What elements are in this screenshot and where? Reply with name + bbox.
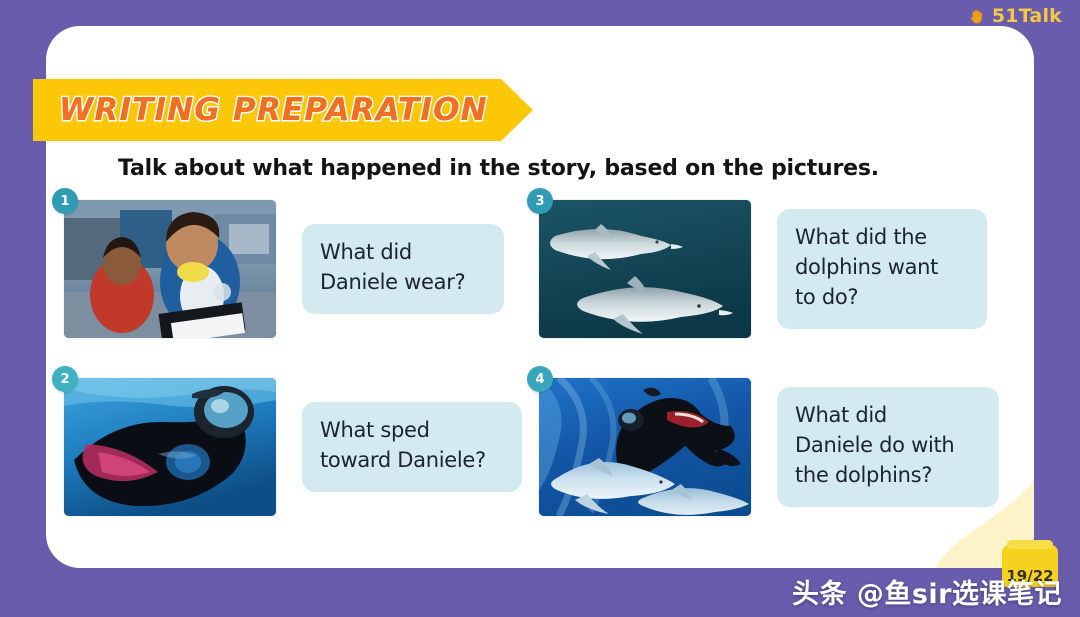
page-title: WRITING PREPARATION (59, 92, 488, 128)
section-banner: WRITING PREPARATION WRITING PREPARATION (33, 79, 533, 141)
list-item: 1 (64, 200, 504, 338)
list-item: 3 (539, 200, 987, 338)
list-item: 2 (64, 378, 522, 516)
instruction-text: Talk about what happened in the story, b… (118, 156, 879, 181)
item-number-badge: 4 (527, 366, 553, 392)
picture-2[interactable] (64, 378, 276, 516)
watermark-text: 头条 @鱼sir选课笔记 (792, 572, 1062, 611)
question-bubble-1: What did Daniele wear? (302, 224, 504, 314)
item-number-badge: 3 (527, 188, 553, 214)
picture-1[interactable] (64, 200, 276, 338)
picture-question-grid: 1 (56, 196, 1032, 546)
picture-4[interactable] (539, 378, 751, 516)
thumbnail-wrapper: 2 (64, 378, 276, 516)
question-bubble-3: What did the dolphins want to do? (777, 209, 987, 328)
item-number-badge: 2 (52, 366, 78, 392)
brand-logo: 51Talk (968, 7, 1062, 26)
thumbnail-wrapper: 1 (64, 200, 276, 338)
brand-name: 51Talk (992, 7, 1062, 26)
question-bubble-4: What did Daniele do with the dolphins? (777, 387, 999, 506)
list-item: 4 (539, 378, 999, 516)
hand-icon (968, 7, 987, 26)
question-bubble-2: What sped toward Daniele? (302, 402, 522, 492)
thumbnail-wrapper: 3 (539, 200, 751, 338)
picture-3[interactable] (539, 200, 751, 338)
thumbnail-wrapper: 4 (539, 378, 751, 516)
item-number-badge: 1 (52, 188, 78, 214)
